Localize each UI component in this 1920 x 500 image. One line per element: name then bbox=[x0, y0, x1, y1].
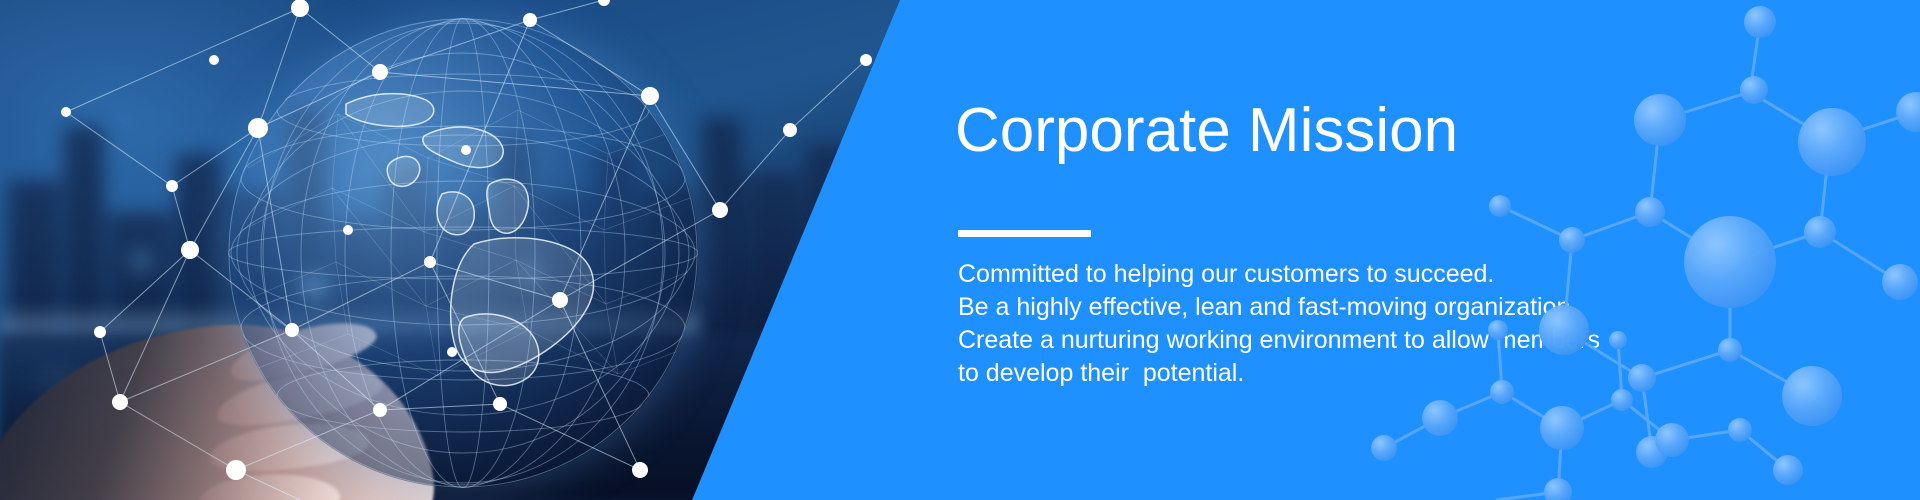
banner-content: Corporate Mission Committed to helping o… bbox=[955, 0, 1695, 500]
mission-line: Be a highly effective, lean and fast-mov… bbox=[958, 291, 1600, 324]
title-divider bbox=[958, 230, 1091, 237]
mission-statement-list: Committed to helping our customers to su… bbox=[958, 258, 1600, 390]
network-globe-photo bbox=[0, 0, 940, 500]
page-title: Corporate Mission bbox=[955, 100, 1458, 162]
mission-line: to develop their potential. bbox=[958, 357, 1600, 390]
network-nodes bbox=[0, 0, 940, 500]
mission-line: Committed to helping our customers to su… bbox=[958, 258, 1600, 291]
mission-line: Create a nurturing working environment t… bbox=[958, 324, 1600, 357]
corporate-mission-banner: Corporate Mission Committed to helping o… bbox=[0, 0, 1920, 500]
